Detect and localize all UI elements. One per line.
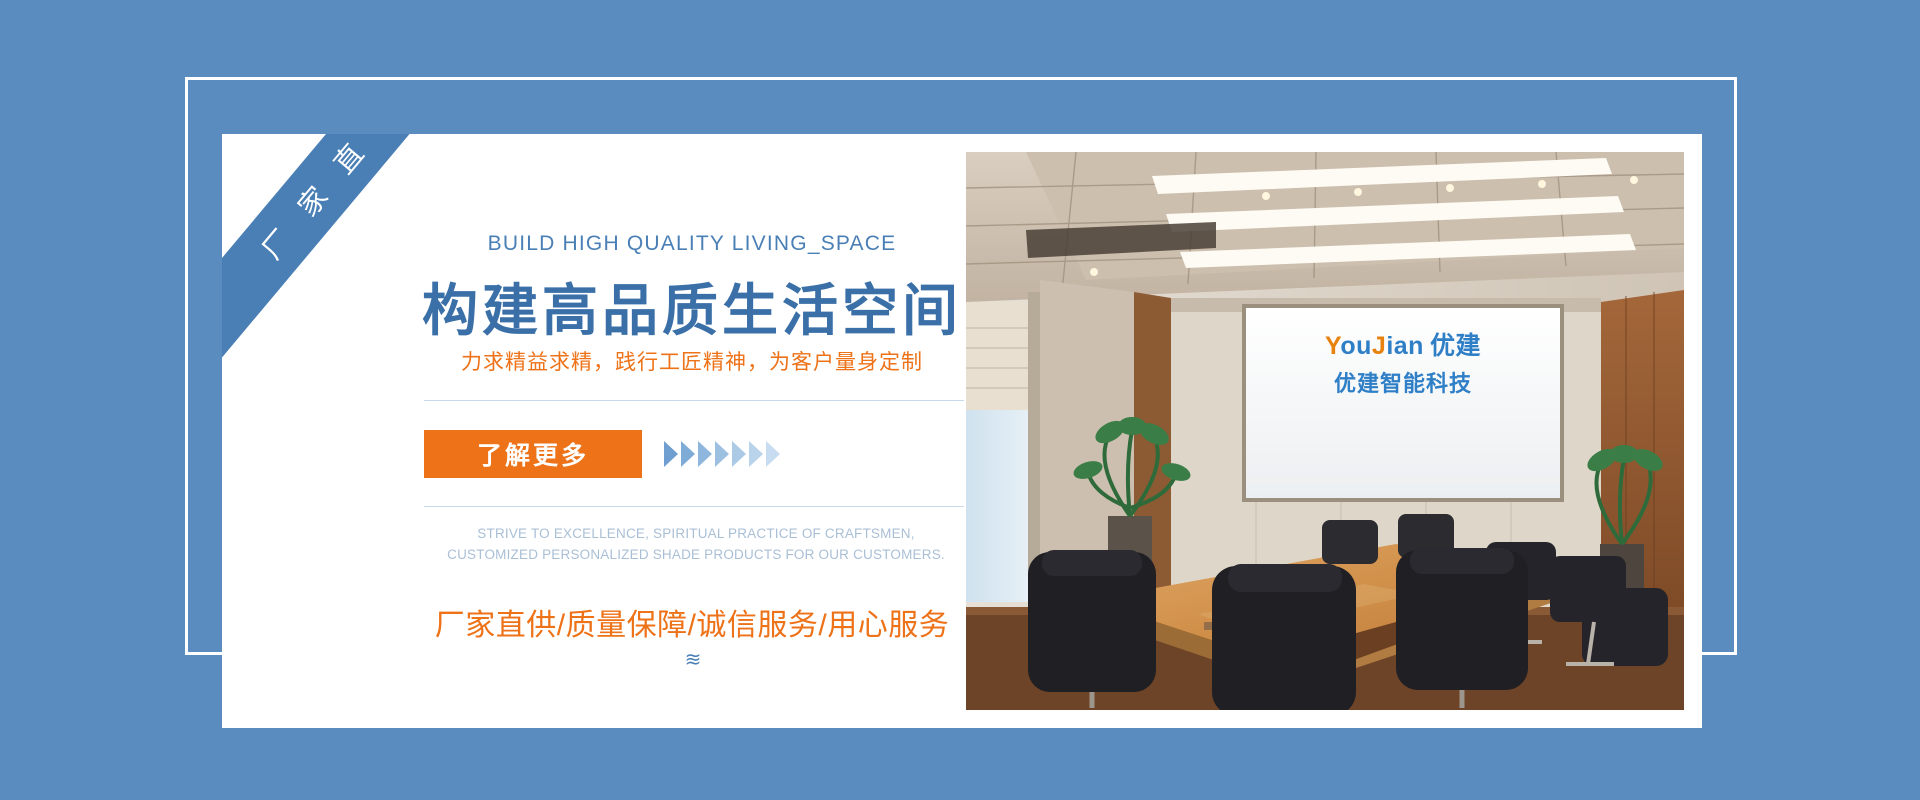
english-description: STRIVE TO EXCELLENCE, SPIRITUAL PRACTICE… [437,524,955,566]
chevron-right-icon [681,441,695,467]
banner-card: 厂 家 直 供 BUILD HIGH QUALITY LIVING_SPACE … [222,134,1702,728]
learn-more-button[interactable]: 了解更多 [424,430,642,478]
promo-banner: 厂 家 直 供 BUILD HIGH QUALITY LIVING_SPACE … [0,0,1920,800]
eyebrow-text: BUILD HIGH QUALITY LIVING_SPACE [332,232,1052,256]
chevron-right-icon [749,441,763,467]
photo-illustration [966,152,1684,710]
chevron-right-icon [664,441,678,467]
cta-row: 了解更多 [424,424,984,484]
subtitle-text: 力求精益求精，践行工匠精神，为客户量身定制 [332,346,1052,376]
chevron-right-icon [766,441,780,467]
chevron-right-icon [715,441,729,467]
keywords-text: 厂家直供/质量保障/诚信服务/用心服务 [332,600,1052,644]
chevron-right-icon [732,441,746,467]
chevron-right-icon [698,441,712,467]
divider-bottom [424,506,964,507]
page-title: 构建高品质生活空间 [332,266,1052,347]
divider-top [424,400,964,401]
wave-icon: ≋ [332,650,1052,670]
text-column: BUILD HIGH QUALITY LIVING_SPACE 构建高品质生活空… [332,134,1052,728]
chevron-right-icon-group [664,441,783,467]
conference-room-photo: YouJian优建 优建智能科技 [966,152,1684,710]
